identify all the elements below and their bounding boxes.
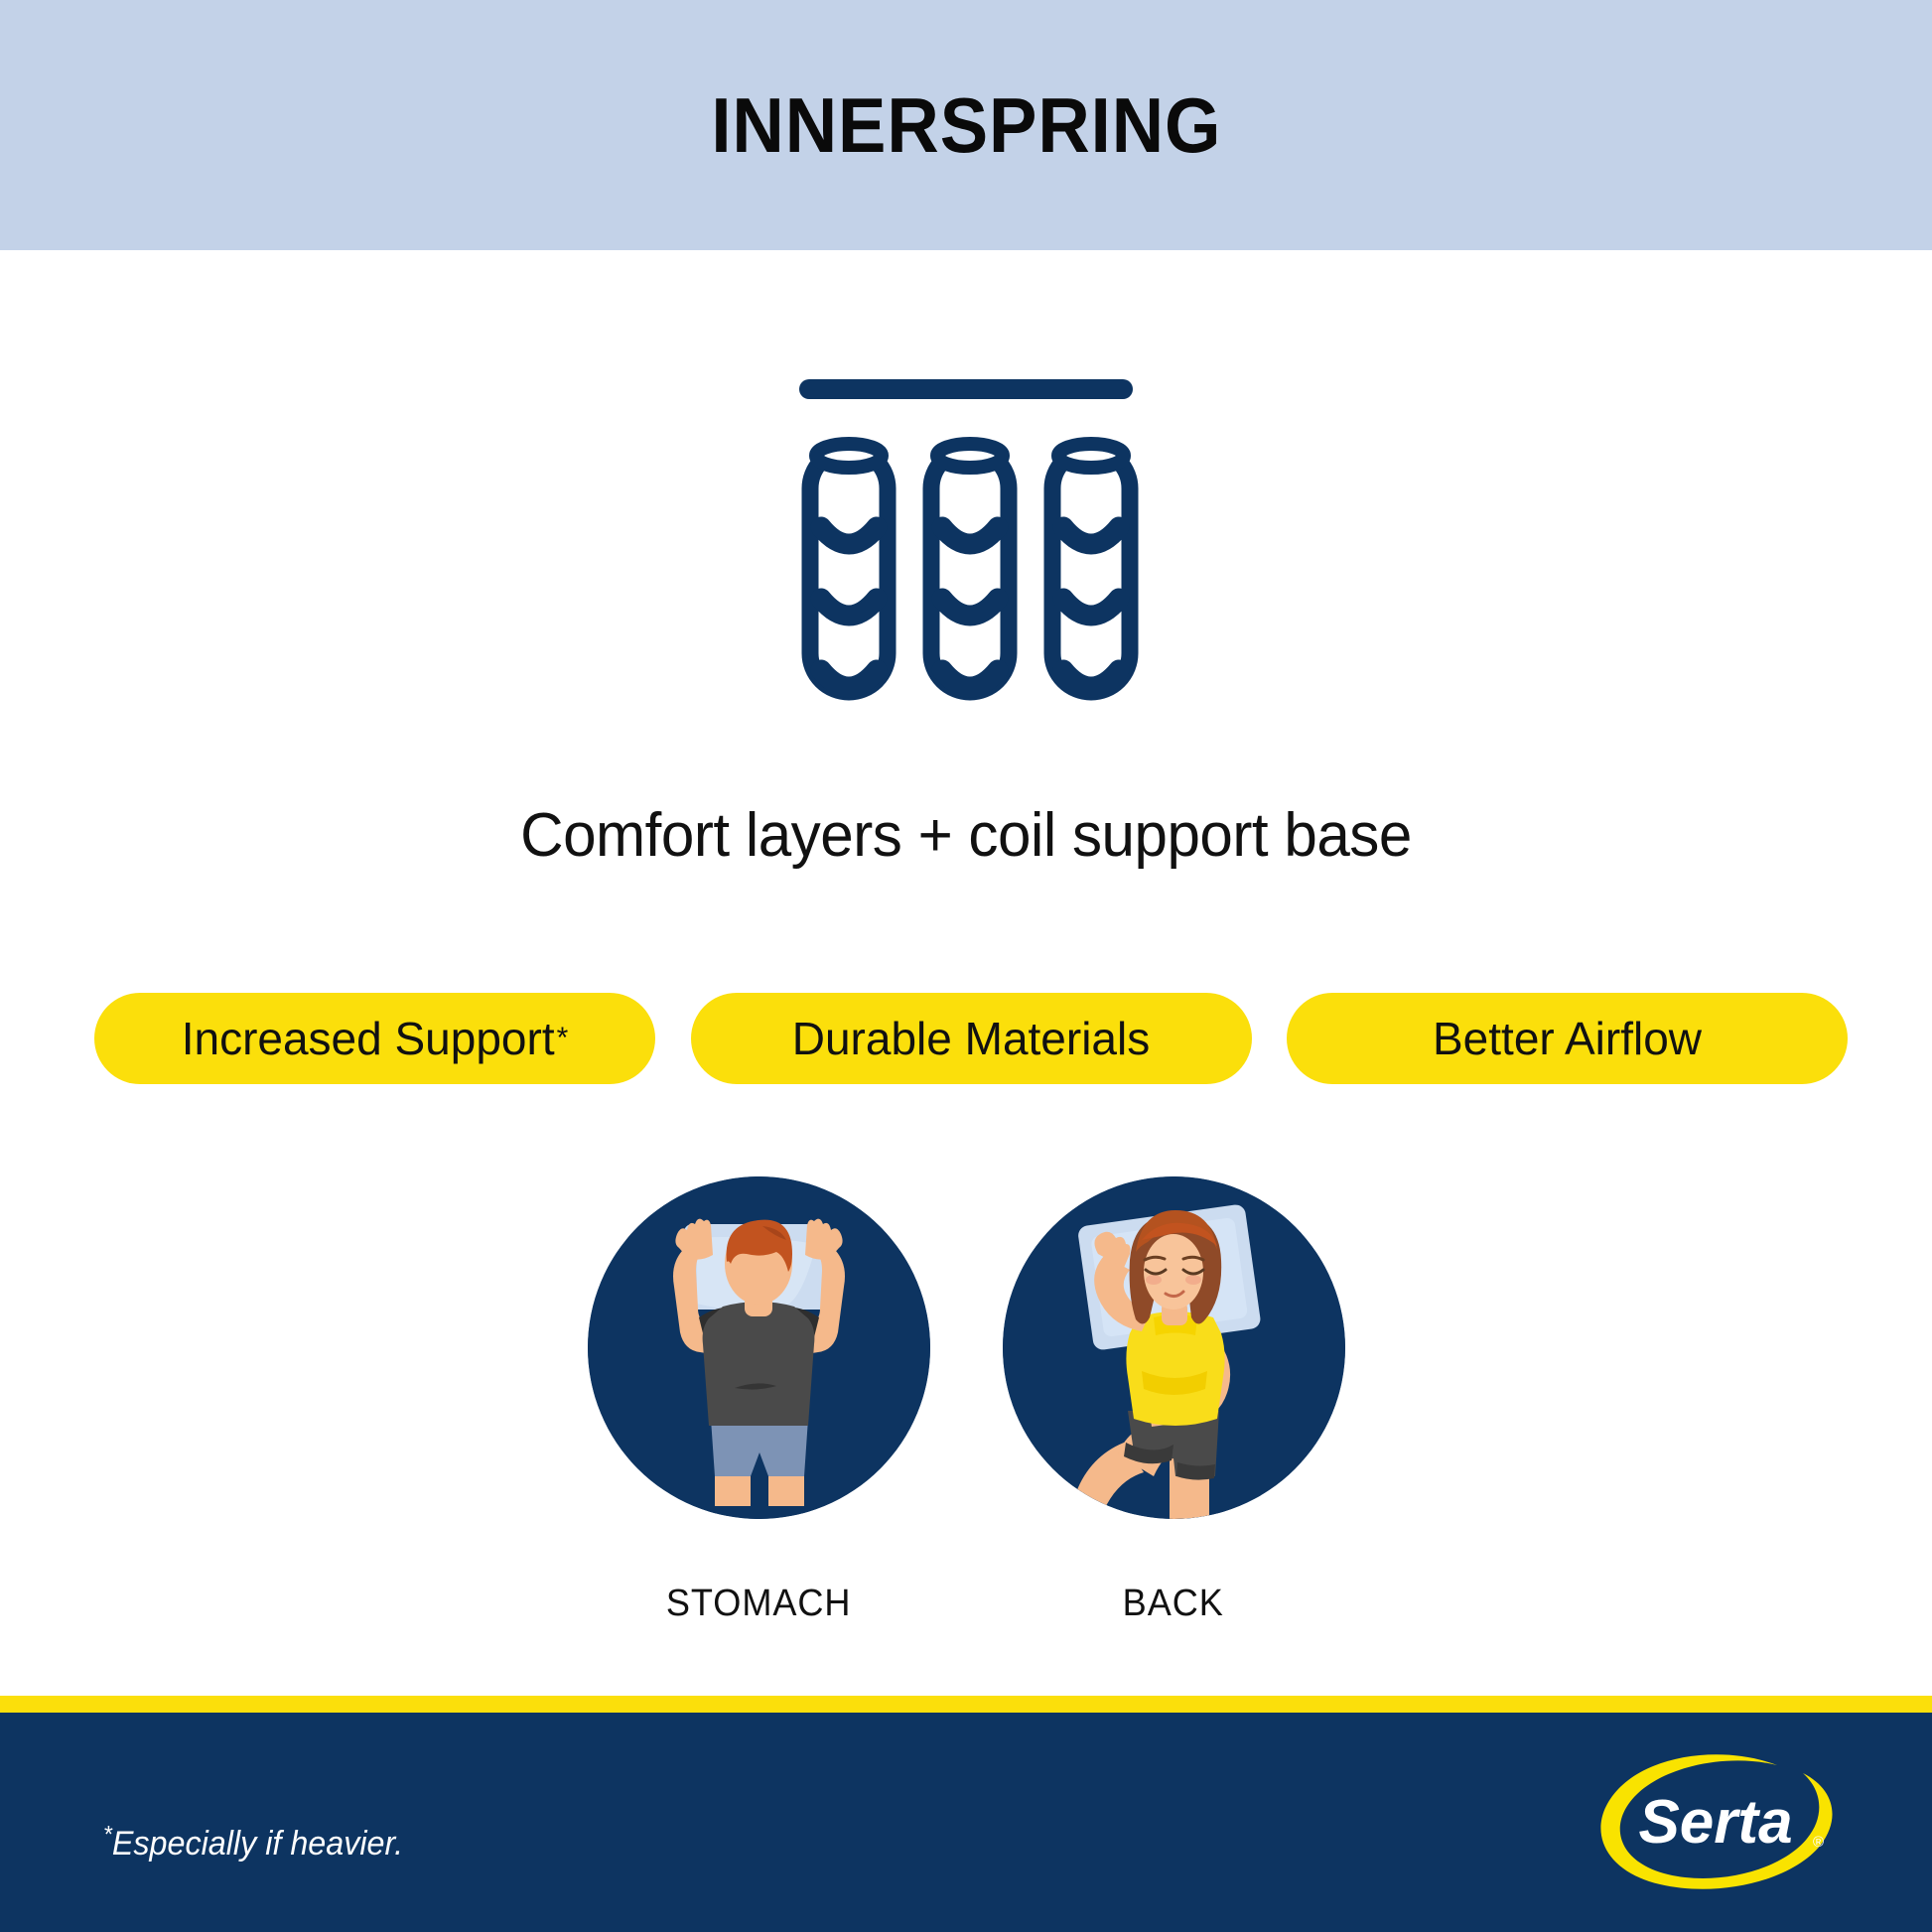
feature-label: Durable Materials bbox=[792, 1012, 1150, 1065]
sleep-position-label: BACK bbox=[1123, 1583, 1224, 1625]
sleep-position-label: STOMACH bbox=[666, 1583, 852, 1625]
sleep-position-back[interactable]: BACK bbox=[1000, 1176, 1347, 1625]
stomach-sleeper-illustration bbox=[588, 1176, 930, 1519]
subtitle-text: Comfort layers + coil support base bbox=[29, 800, 1903, 871]
header-band: INNERSPRING bbox=[0, 0, 1932, 250]
feature-label: Better Airflow bbox=[1433, 1012, 1702, 1065]
feature-pill-increased-support[interactable]: Increased Support* bbox=[94, 993, 655, 1084]
feature-pill-better-airflow[interactable]: Better Airflow bbox=[1287, 993, 1848, 1084]
sleep-position-stomach[interactable]: STOMACH bbox=[585, 1176, 932, 1625]
infographic-page: INNERSPRING bbox=[0, 0, 1932, 1932]
feature-pill-durable-materials[interactable]: Durable Materials bbox=[691, 993, 1252, 1084]
footnote-marker: * bbox=[103, 1822, 112, 1849]
page-title: INNERSPRING bbox=[711, 80, 1221, 171]
sleep-positions-row: STOMACH bbox=[0, 1176, 1932, 1625]
footnote-label: Especially if heavier. bbox=[112, 1825, 403, 1863]
footer-accent-stripe bbox=[0, 1696, 1932, 1713]
back-sleeper-illustration bbox=[1003, 1176, 1345, 1519]
serta-logo[interactable]: Serta ® bbox=[1579, 1747, 1866, 1896]
footnote-text: *Especially if heavier. bbox=[103, 1825, 403, 1863]
feature-label: Increased Support bbox=[182, 1012, 555, 1065]
serta-wordmark: Serta bbox=[1638, 1788, 1792, 1857]
feature-pill-row: Increased Support* Durable Materials Bet… bbox=[94, 993, 1848, 1084]
innerspring-coils-icon bbox=[787, 372, 1145, 720]
registered-mark: ® bbox=[1813, 1834, 1824, 1851]
